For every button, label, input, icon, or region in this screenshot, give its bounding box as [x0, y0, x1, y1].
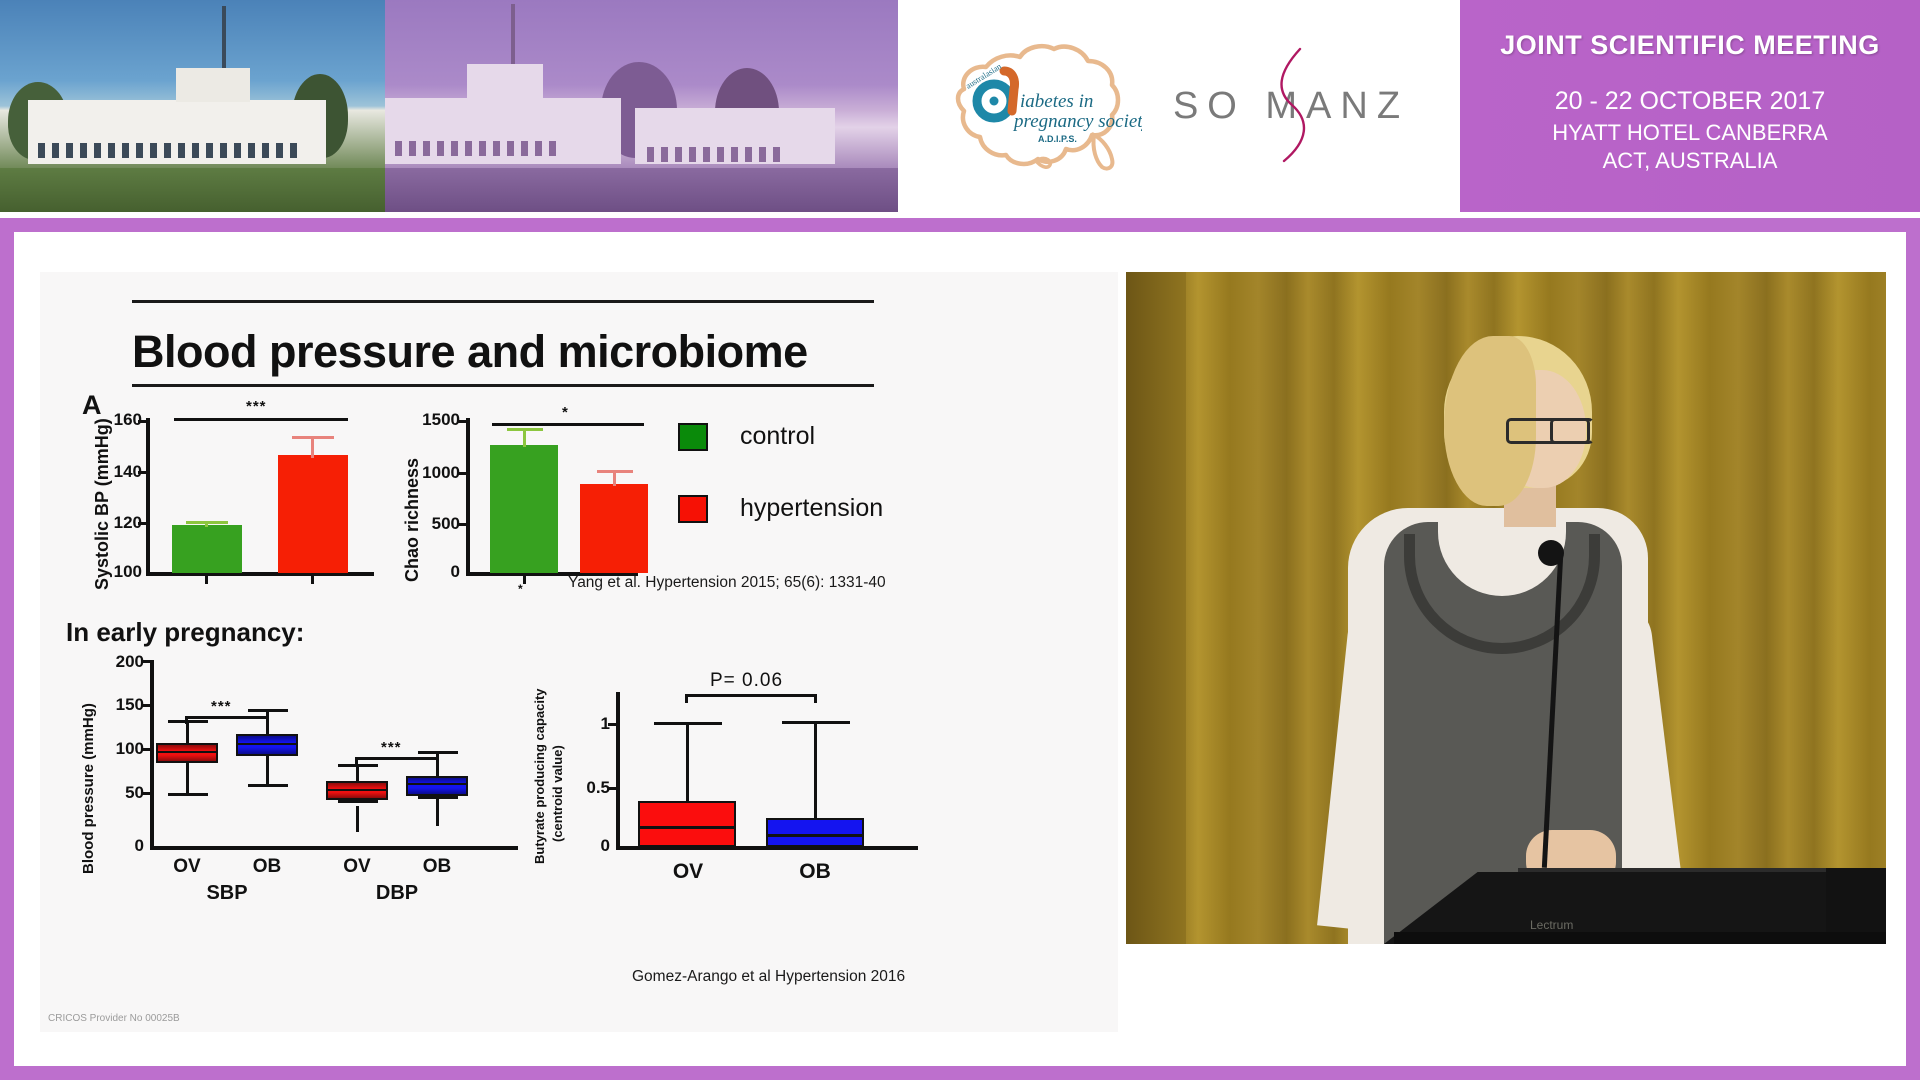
chao-yaxis [466, 418, 470, 574]
chart-systolic-bp: Systolic BP (mmHg) 160 140 120 100 [74, 402, 374, 622]
butyrate-pvalue-annotation: P= 0.06 [710, 670, 783, 692]
butyrate-xlabel-ov: OV [657, 860, 719, 884]
bp-ov-sbp-cap-upper [168, 720, 208, 723]
building-left-tower [176, 68, 250, 102]
chart-butyrate-boxplot: Butyrate producing capacity (centroid va… [518, 664, 938, 914]
systolic-bp-err-hyp-stem [311, 436, 314, 458]
bp-group-label-dbp: DBP [366, 882, 428, 905]
adips-logo: iabetes in pregnancy society A.D.I.P.S. … [942, 31, 1142, 181]
somanz-swoosh-icon [1270, 47, 1318, 163]
butyrate-ytick-0-5: 0.5 [562, 778, 610, 798]
butyrate-tick-0-5 [608, 787, 618, 790]
bp-group-label-sbp: SBP [196, 882, 258, 905]
systolic-bp-ytick-140: 140 [88, 462, 142, 482]
bp-ov-dbp-cap-upper [338, 764, 378, 767]
section-label-early-pregnancy: In early pregnancy: [66, 617, 304, 648]
cricos-provider-note: CRICOS Provider No 00025B [48, 1013, 180, 1024]
bp-ytick-50: 50 [90, 783, 144, 803]
bp-tick-200 [142, 660, 152, 663]
chao-ytick-500: 500 [402, 514, 460, 534]
bp-xlabel-ov-sbp: OV [156, 856, 218, 878]
bp-ov-sbp-box [156, 743, 218, 763]
systolic-bp-bar-control [172, 525, 242, 573]
butyrate-xlabel-ob: OB [784, 860, 846, 884]
microphone-icon [1538, 540, 1564, 566]
systolic-bp-yaxis [146, 418, 150, 574]
chao-tick-mark-1000 [458, 472, 468, 475]
bp-ob-dbp-median [406, 783, 468, 785]
presentation-slide: Blood pressure and microbiome A Systolic… [40, 272, 1118, 1032]
bp-xlabel-ov-dbp: OV [326, 856, 388, 878]
butyrate-tick-1-0 [608, 723, 618, 726]
bp-ob-sbp-box [236, 734, 298, 756]
chao-err-hyp-stem [613, 470, 616, 486]
slide-title: Blood pressure and microbiome [132, 326, 808, 378]
butyrate-ob-box [766, 818, 864, 847]
content-frame: Blood pressure and microbiome A Systolic… [0, 218, 1920, 1080]
bp-dbp-sig-stars: *** [381, 739, 402, 756]
butyrate-ov-whisker [686, 722, 689, 806]
lectern-base [1394, 932, 1886, 944]
bp-ytick-0: 0 [90, 836, 144, 856]
systolic-bp-ytick-100: 100 [88, 562, 142, 582]
bp-ov-sbp-whisker-lower [186, 763, 189, 796]
butyrate-ob-whisker [814, 721, 817, 821]
title-rule-top [132, 300, 874, 303]
chao-tick-mark-500 [458, 523, 468, 526]
curtain-shadow-left [1126, 272, 1186, 944]
chao-bottom-marker: * [518, 582, 524, 596]
xtick-hypertension [311, 575, 314, 584]
bp-dbp-sig-right-tick [436, 757, 439, 765]
meeting-location: ACT, AUSTRALIA [1460, 148, 1920, 174]
bp-ytick-100: 100 [90, 739, 144, 759]
windows-right-row-a [395, 141, 556, 156]
bp-ytick-200: 200 [90, 652, 144, 672]
chao-sig-star: * [562, 404, 569, 421]
tick-mark-120 [138, 522, 148, 525]
tick-mark-160 [138, 420, 148, 423]
conference-banner: iabetes in pregnancy society A.D.I.P.S. … [0, 0, 1920, 212]
bp-xaxis [150, 846, 518, 850]
bp-xlabel-ob-sbp: OB [236, 856, 298, 878]
grass-left [0, 168, 385, 212]
grass-right [385, 168, 898, 212]
bp-tick-150 [142, 704, 152, 707]
chao-err-control-stem [523, 428, 526, 447]
systolic-bp-err-control-stem [205, 521, 208, 527]
legend-item-hypertension: hypertension [678, 494, 883, 523]
australia-map-icon: iabetes in pregnancy society A.D.I.P.S. … [942, 31, 1142, 181]
chao-bar-control [490, 445, 558, 573]
bp-tick-50 [142, 792, 152, 795]
chart-legend: control hypertension [678, 422, 938, 562]
bp-sbp-sig-left-tick [185, 716, 188, 724]
building-right-tower [467, 64, 543, 100]
legend-swatch-control [678, 423, 708, 451]
legend-swatch-hypertension [678, 495, 708, 523]
butyrate-ylabel-line1: Butyrate producing capacity [532, 688, 547, 864]
citation-yang: Yang et al. Hypertension 2015; 65(6): 13… [568, 574, 886, 592]
butyrate-ob-cap-upper [782, 721, 850, 724]
systolic-bp-ytick-120: 120 [88, 513, 142, 533]
systolic-bp-sig-bar [174, 418, 348, 421]
systolic-bp-sig-stars: *** [246, 398, 267, 415]
bp-ob-sbp-cap-upper [248, 709, 288, 712]
bp-sbp-sig-stars: *** [211, 698, 232, 715]
glasses-right-lens-icon [1550, 418, 1590, 444]
presentation-screenshot: iabetes in pregnancy society A.D.I.P.S. … [0, 0, 1920, 1080]
chao-ytick-1500: 1500 [402, 410, 460, 430]
meeting-info-block: JOINT SCIENTIFIC MEETING 20 - 22 OCTOBER… [1460, 0, 1920, 212]
legend-item-control: control [678, 422, 815, 451]
butyrate-sig-left-tick [685, 694, 688, 703]
photo-right-purple-tinted [385, 0, 898, 212]
banner-photo-parliament-house [0, 0, 898, 212]
bp-sbp-sig-right-tick [266, 716, 269, 724]
bp-ob-dbp-cap-lower [418, 796, 458, 799]
bp-xlabel-ob-dbp: OB [406, 856, 468, 878]
butyrate-ob-median [766, 834, 864, 837]
meeting-title: JOINT SCIENTIFIC MEETING [1460, 30, 1920, 61]
chart-blood-pressure-boxplot: Blood pressure (mmHg) 200 150 100 50 0 [68, 654, 518, 914]
tick-mark-140 [138, 471, 148, 474]
windows-right-row-b [647, 147, 780, 162]
bp-ov-sbp-median [156, 751, 218, 753]
butyrate-sig-bar [685, 694, 817, 697]
content-frame-inner: Blood pressure and microbiome A Systolic… [14, 232, 1906, 1066]
chao-ytick-1000: 1000 [402, 463, 460, 483]
bp-ob-sbp-whisker-lower [266, 755, 269, 787]
bp-dbp-sig-left-tick [355, 757, 358, 765]
bp-ob-dbp-box [406, 776, 468, 796]
butyrate-sig-right-tick [814, 694, 817, 703]
bp-tick-100 [142, 748, 152, 751]
systolic-bp-bar-hypertension [278, 455, 348, 573]
bp-ov-sbp-cap-lower [168, 793, 208, 796]
dips-line3: A.D.I.P.S. [1038, 134, 1077, 144]
butyrate-ytick-0-0: 0 [562, 836, 610, 856]
bp-ob-dbp-whisker-lower [436, 796, 439, 826]
meeting-venue: HYATT HOTEL CANBERRA [1460, 120, 1920, 146]
bp-ytick-150: 150 [90, 695, 144, 715]
banner-logos: iabetes in pregnancy society A.D.I.P.S. … [898, 0, 1460, 212]
dips-line2: pregnancy society [1012, 111, 1142, 132]
butyrate-ov-cap-upper [654, 722, 722, 725]
dips-line1: iabetes in [1020, 91, 1093, 112]
windows-left-row [38, 143, 297, 158]
bp-dbp-sig-bar [355, 757, 439, 760]
bp-ob-dbp-cap-upper [418, 751, 458, 754]
bp-ob-sbp-median [236, 743, 298, 745]
bp-ob-sbp-cap-lower [248, 784, 288, 787]
bp-yaxis [150, 660, 154, 850]
bp-ov-dbp-whisker-lower [356, 806, 359, 832]
title-rule-bottom [132, 384, 874, 387]
chao-bar-hypertension [580, 484, 648, 573]
systolic-bp-ytick-160: 160 [88, 410, 142, 430]
chao-ytick-0: 0 [402, 562, 460, 582]
meeting-date: 20 - 22 OCTOBER 2017 [1460, 87, 1920, 116]
legend-label-control: control [740, 422, 815, 451]
legend-label-hypertension: hypertension [740, 494, 883, 523]
chao-sig-bar [492, 423, 644, 426]
bp-ov-dbp-cap-lower [338, 800, 378, 803]
photo-left-blue [0, 0, 385, 212]
speaker-video-feed[interactable]: Lectrum [1126, 272, 1886, 944]
butyrate-ov-median [638, 826, 736, 829]
citation-gomez-arango: Gomez-Arango et al Hypertension 2016 [632, 968, 905, 986]
butyrate-ov-box [638, 801, 736, 847]
xtick-control [205, 575, 208, 584]
lectern-label: Lectrum [1530, 918, 1573, 932]
chao-tick-mark-1500 [458, 420, 468, 423]
bp-sbp-sig-bar [185, 716, 269, 719]
bp-ov-dbp-median [326, 789, 388, 791]
somanz-logo: SO MANZ [1166, 51, 1416, 161]
butyrate-ytick-1-0: 1 [562, 714, 610, 734]
butyrate-yaxis [616, 692, 620, 850]
